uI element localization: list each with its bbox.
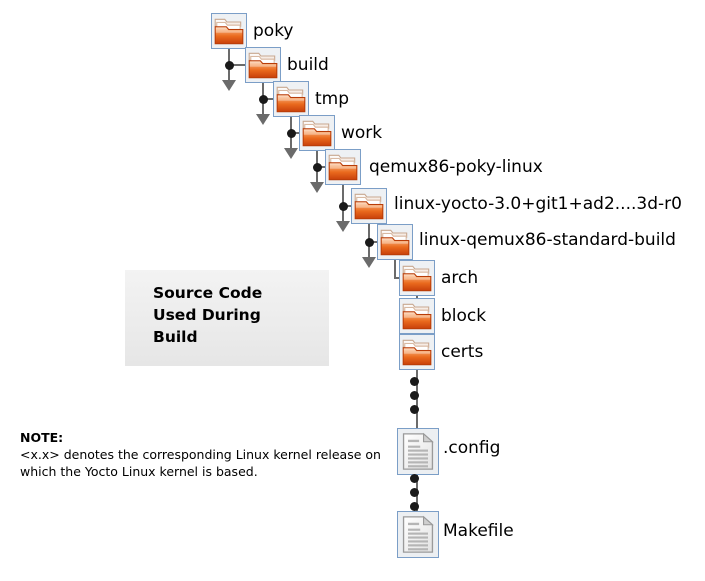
branch-dot-tmp xyxy=(259,95,268,104)
source-code-callout: Source Code Used During Build xyxy=(125,270,329,366)
branch-dot-work xyxy=(287,129,296,138)
ellipsis-config-makefile-dot xyxy=(410,502,419,511)
ellipsis-certs-config-dot xyxy=(410,391,419,400)
branch-dot-linux-yocto xyxy=(339,202,348,211)
directory-tree-diagram: pokybuildtmpworkqemux86-poky-linuxlinux-… xyxy=(0,0,705,581)
folder-icon-arch[interactable] xyxy=(399,260,435,296)
folder-glyph xyxy=(400,335,434,369)
node-label-work: work xyxy=(341,124,382,142)
folder-icon-work[interactable] xyxy=(299,115,335,151)
folder-icon-tmp[interactable] xyxy=(273,81,309,117)
document-glyph xyxy=(398,512,438,557)
node-label-qemux86-poky-linux: qemux86-poky-linux xyxy=(369,158,543,176)
node-label-dotconfig: .config xyxy=(443,439,500,457)
note-title: NOTE: xyxy=(20,430,381,446)
ellipsis-certs-config-dot xyxy=(410,405,419,414)
folder-icon-block[interactable] xyxy=(399,298,435,334)
file-icon-dotconfig[interactable] xyxy=(397,428,439,475)
file-icon-makefile[interactable] xyxy=(397,511,439,558)
folder-glyph xyxy=(212,14,246,48)
node-label-tmp: tmp xyxy=(315,90,349,108)
ellipsis-certs-config-dot xyxy=(410,377,419,386)
source-code-callout-text: Source Code Used During Build xyxy=(153,282,262,348)
document-glyph xyxy=(398,429,438,474)
node-label-block: block xyxy=(441,307,486,325)
branch-dot-qemux86-poky-linux xyxy=(313,163,322,172)
folder-glyph xyxy=(378,225,412,259)
arrow-head-build xyxy=(256,114,270,125)
ellipsis-config-makefile-dot xyxy=(410,474,419,483)
note-body: <x.x> denotes the corresponding Linux ke… xyxy=(20,446,381,480)
node-label-poky: poky xyxy=(253,22,294,40)
folder-glyph xyxy=(246,48,280,82)
folder-glyph xyxy=(352,189,386,223)
branch-dot-build xyxy=(225,61,234,70)
arrow-head-tmp xyxy=(284,148,298,159)
folder-icon-poky[interactable] xyxy=(211,13,247,49)
node-label-arch: arch xyxy=(441,269,478,287)
folder-glyph xyxy=(326,150,360,184)
arrow-head-work xyxy=(310,182,324,193)
ellipsis-config-makefile-dot xyxy=(410,488,419,497)
arrow-head-poky xyxy=(222,80,236,91)
folder-glyph xyxy=(400,299,434,333)
folder-icon-linux-yocto[interactable] xyxy=(351,188,387,224)
arrow-head-linux-yocto xyxy=(362,257,376,268)
folder-icon-linux-qemux86-standard-build[interactable] xyxy=(377,224,413,260)
folder-icon-build[interactable] xyxy=(245,47,281,83)
folder-icon-qemux86-poky-linux[interactable] xyxy=(325,149,361,185)
note-block: NOTE: <x.x> denotes the corresponding Li… xyxy=(20,430,381,480)
branch-dot-linux-qemux86-standard-build xyxy=(365,238,374,247)
folder-glyph xyxy=(274,82,308,116)
folder-glyph xyxy=(400,261,434,295)
folder-glyph xyxy=(300,116,334,150)
arrow-head-qemux86-poky-linux xyxy=(336,221,350,232)
node-label-build: build xyxy=(287,56,329,74)
node-label-certs: certs xyxy=(441,343,483,361)
folder-icon-certs[interactable] xyxy=(399,334,435,370)
node-label-linux-yocto: linux-yocto-3.0+git1+ad2....3d-r0 xyxy=(394,195,682,213)
node-label-linux-qemux86-standard-build: linux-qemux86-standard-build xyxy=(419,231,676,249)
node-label-makefile: Makefile xyxy=(443,522,514,540)
